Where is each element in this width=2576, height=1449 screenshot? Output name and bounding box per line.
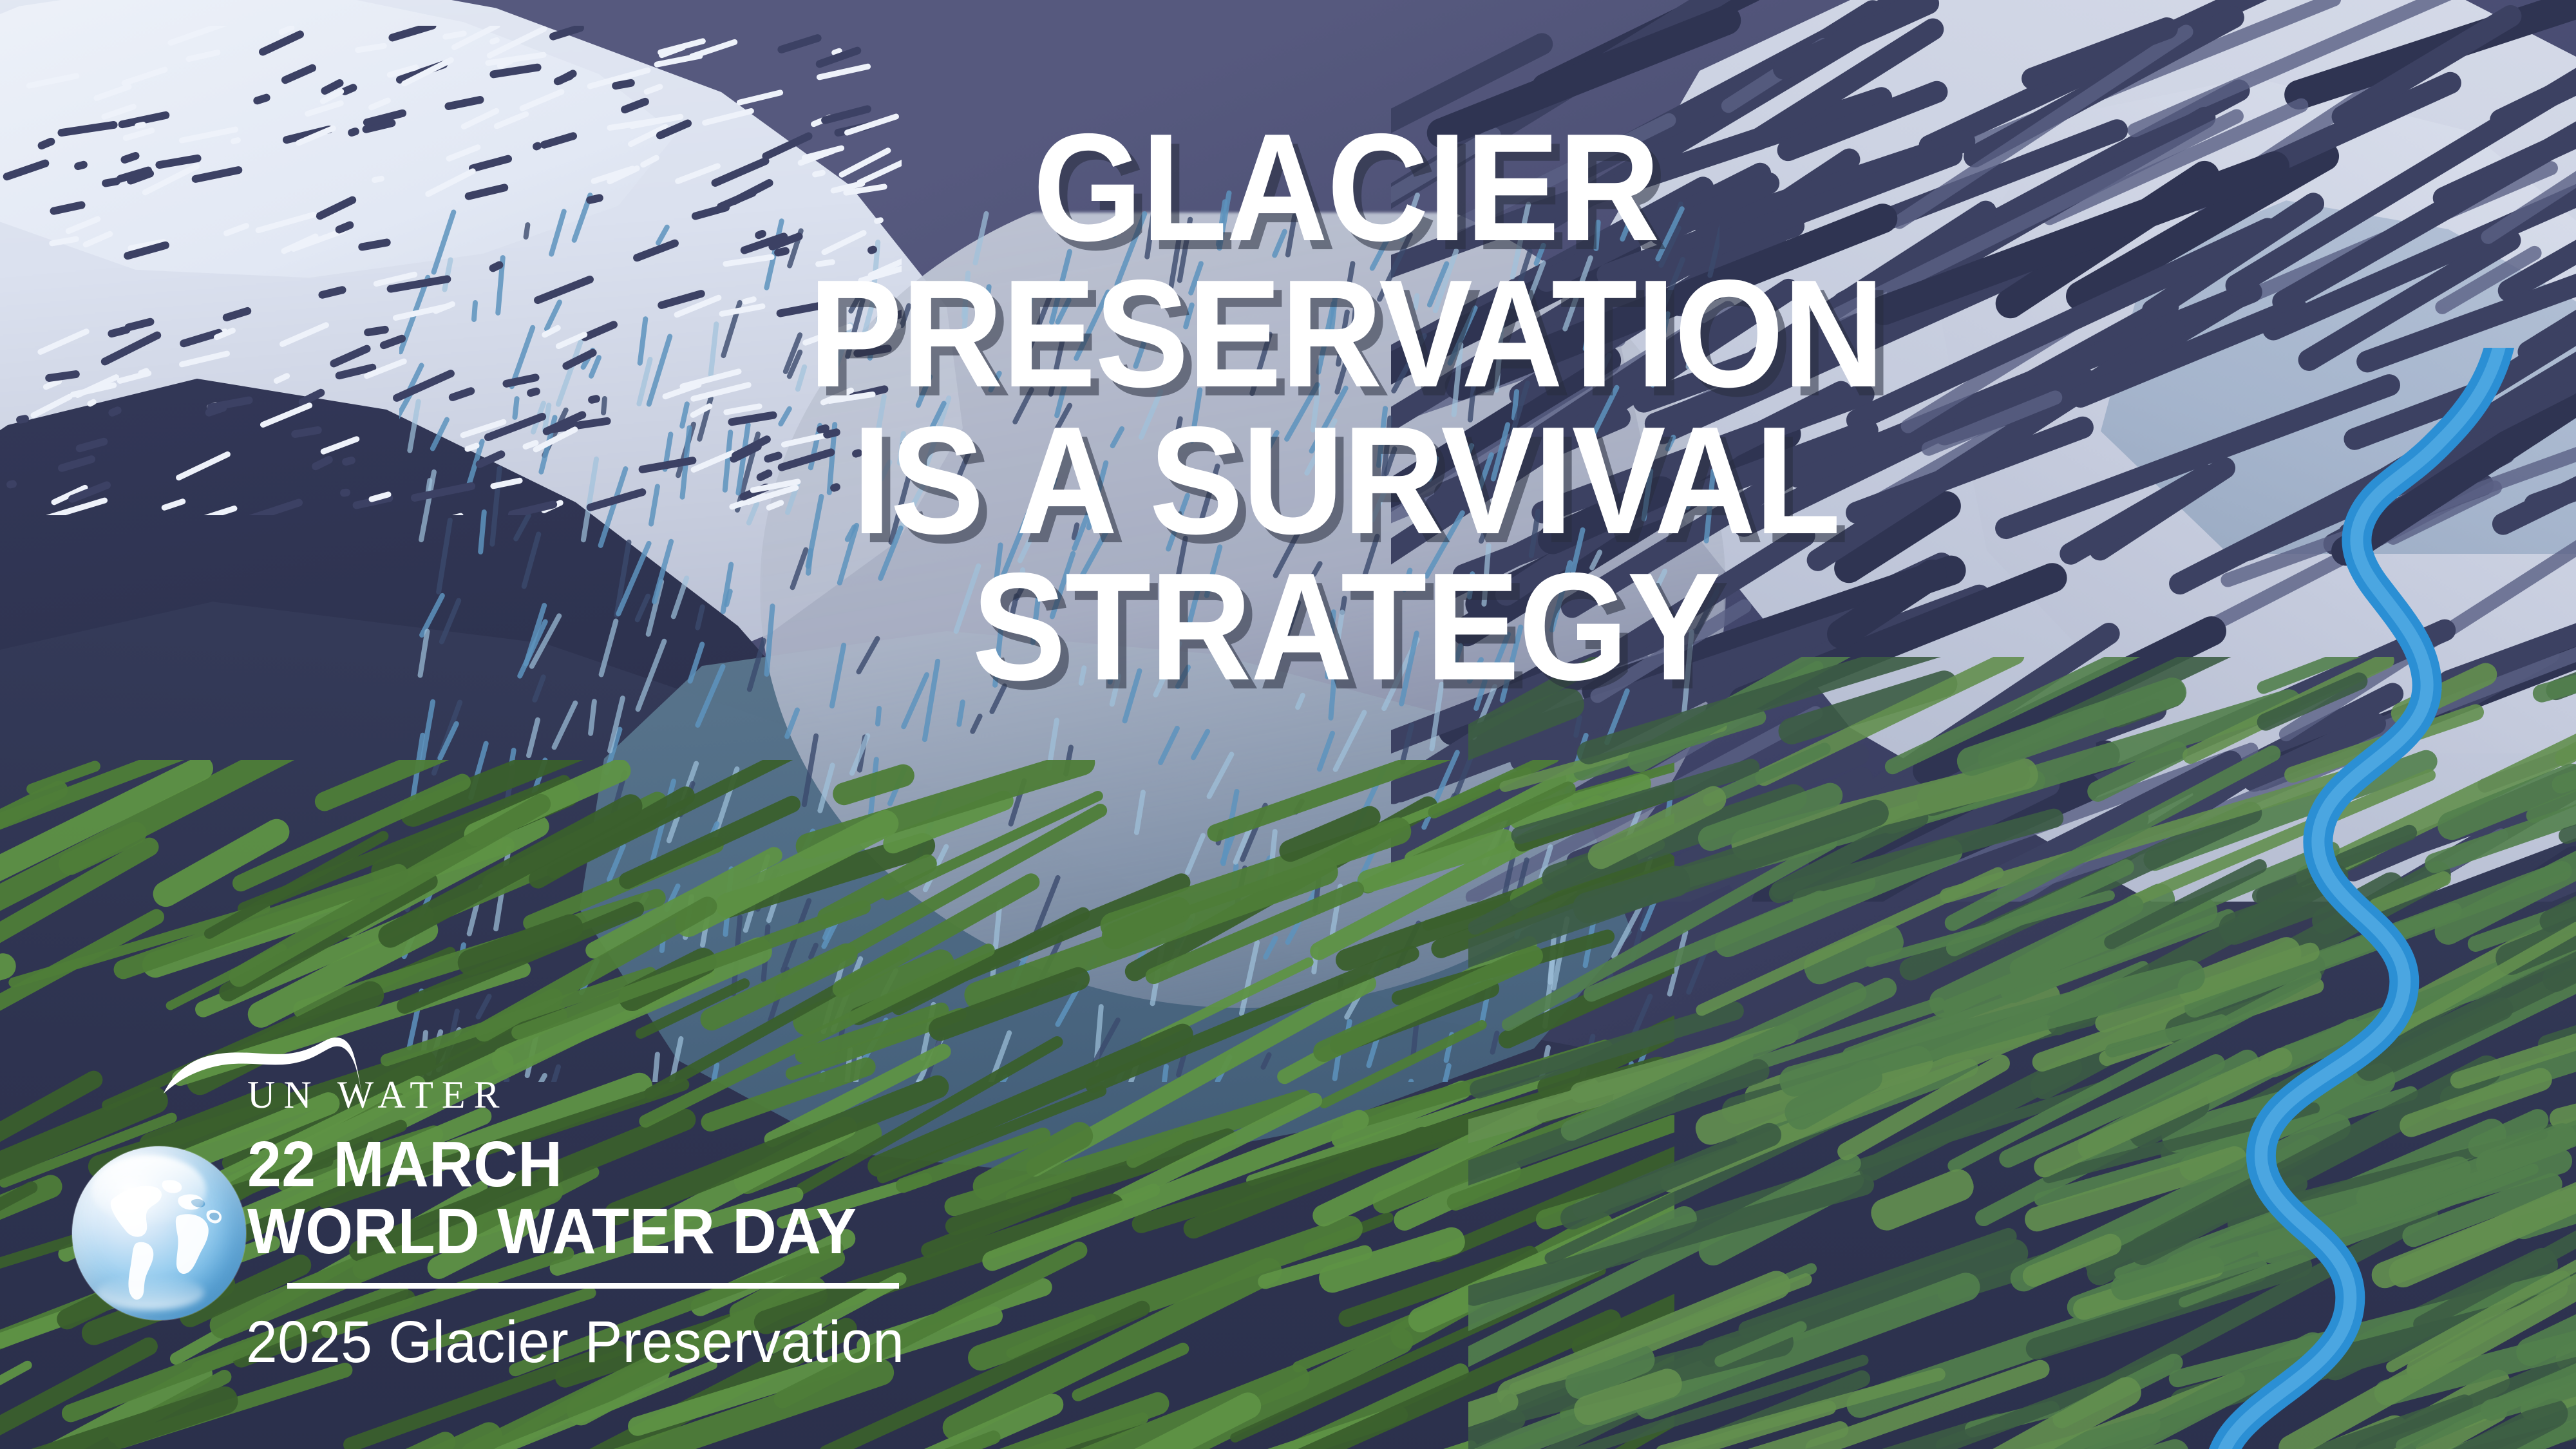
- world-water-day-wordmark: 22 MARCH WORLD WATER DAY: [247, 1131, 857, 1265]
- globe-icon: [72, 1146, 246, 1320]
- wwd-event: WORLD WATER DAY: [247, 1198, 857, 1265]
- un-water-wordmark: UN WATER: [247, 1073, 508, 1117]
- snow-flecks: [0, 26, 902, 515]
- world-water-day-poster: GLACIER PRESERVATION IS A SURVIVAL STRAT…: [0, 0, 2576, 1449]
- river-icon: [1674, 348, 2576, 1449]
- wwd-date: 22 MARCH: [247, 1128, 562, 1200]
- globe-highlight: [91, 1155, 206, 1225]
- globe-lower-highlight: [97, 1275, 204, 1310]
- un-water-logo-lockup: UN WATER 22 MARCH WORLD WATER DAY 2025 G…: [62, 1018, 918, 1391]
- logo-divider-rule: [287, 1283, 899, 1289]
- campaign-theme-label: 2025 Glacier Preservation: [246, 1309, 904, 1376]
